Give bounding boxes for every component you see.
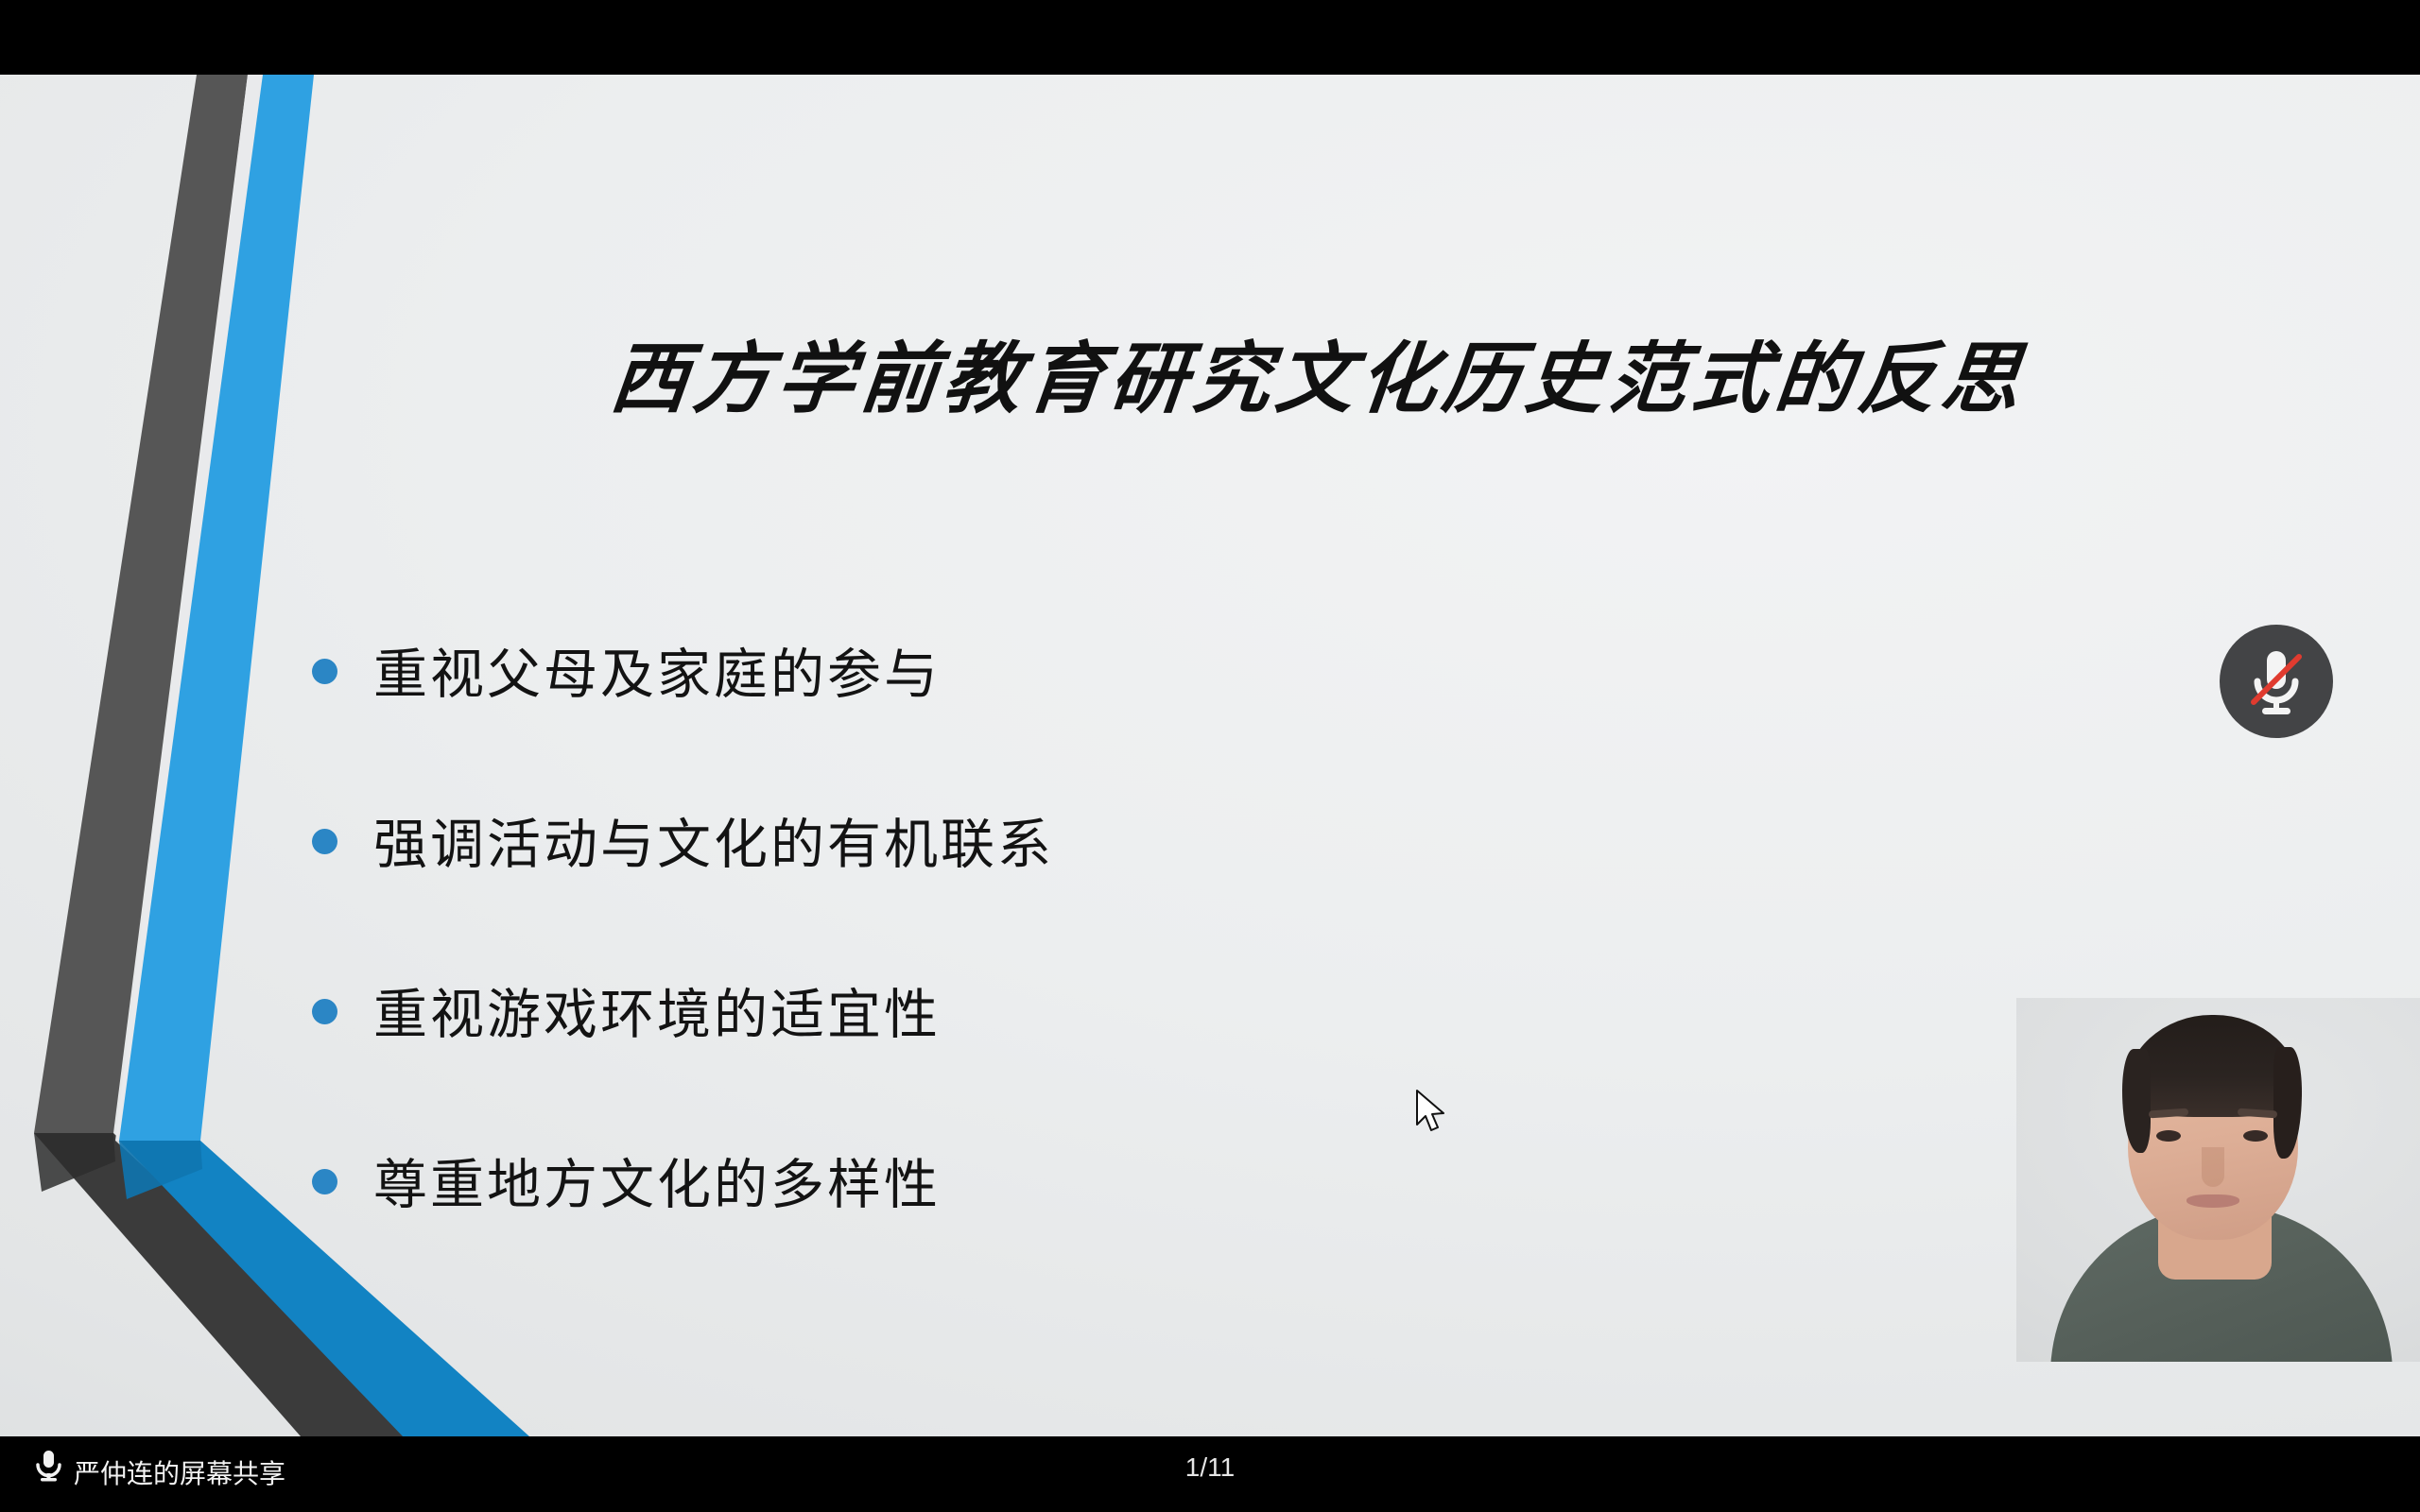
screen-share-window: 西方学前教育研究文化历史范式的反思 重视父母及家庭的参与 强调活动与文化的有机联… [0, 0, 2420, 1512]
microphone-muted-icon [2220, 625, 2333, 738]
list-item: 尊重地方文化的多样性 [312, 1143, 1730, 1229]
list-item: 强调活动与文化的有机联系 [312, 802, 1730, 889]
slide-title: 西方学前教育研究文化历史范式的反思 [486, 316, 2152, 428]
list-item: 重视游戏环境的适宜性 [312, 972, 1730, 1059]
bullet-dot-icon [312, 999, 337, 1024]
avatar-eye-left [2156, 1130, 2181, 1142]
bullet-text: 重视游戏环境的适宜性 [373, 988, 941, 1044]
slide-bullet-list: 重视父母及家庭的参与 强调活动与文化的有机联系 重视游戏环境的适宜性 尊重地方文… [312, 632, 1730, 1313]
bullet-text: 重视父母及家庭的参与 [373, 647, 941, 704]
bullet-dot-icon [312, 1169, 337, 1194]
bullet-dot-icon [312, 829, 337, 854]
bullet-text: 尊重地方文化的多样性 [373, 1158, 941, 1214]
letterbox-top-bar [0, 0, 2420, 75]
avatar-hair-left [2122, 1049, 2151, 1153]
bullet-dot-icon [312, 659, 337, 684]
avatar-mouth [2187, 1194, 2239, 1208]
page-indicator: 1/11 [0, 1452, 2420, 1483]
avatar-eye-right [2243, 1130, 2268, 1142]
bullet-text: 强调活动与文化的有机联系 [373, 817, 1054, 874]
presenter-video-tile[interactable] [2016, 998, 2420, 1362]
avatar-nose [2202, 1147, 2224, 1187]
mic-mute-button[interactable] [2220, 625, 2333, 738]
list-item: 重视父母及家庭的参与 [312, 632, 1730, 719]
